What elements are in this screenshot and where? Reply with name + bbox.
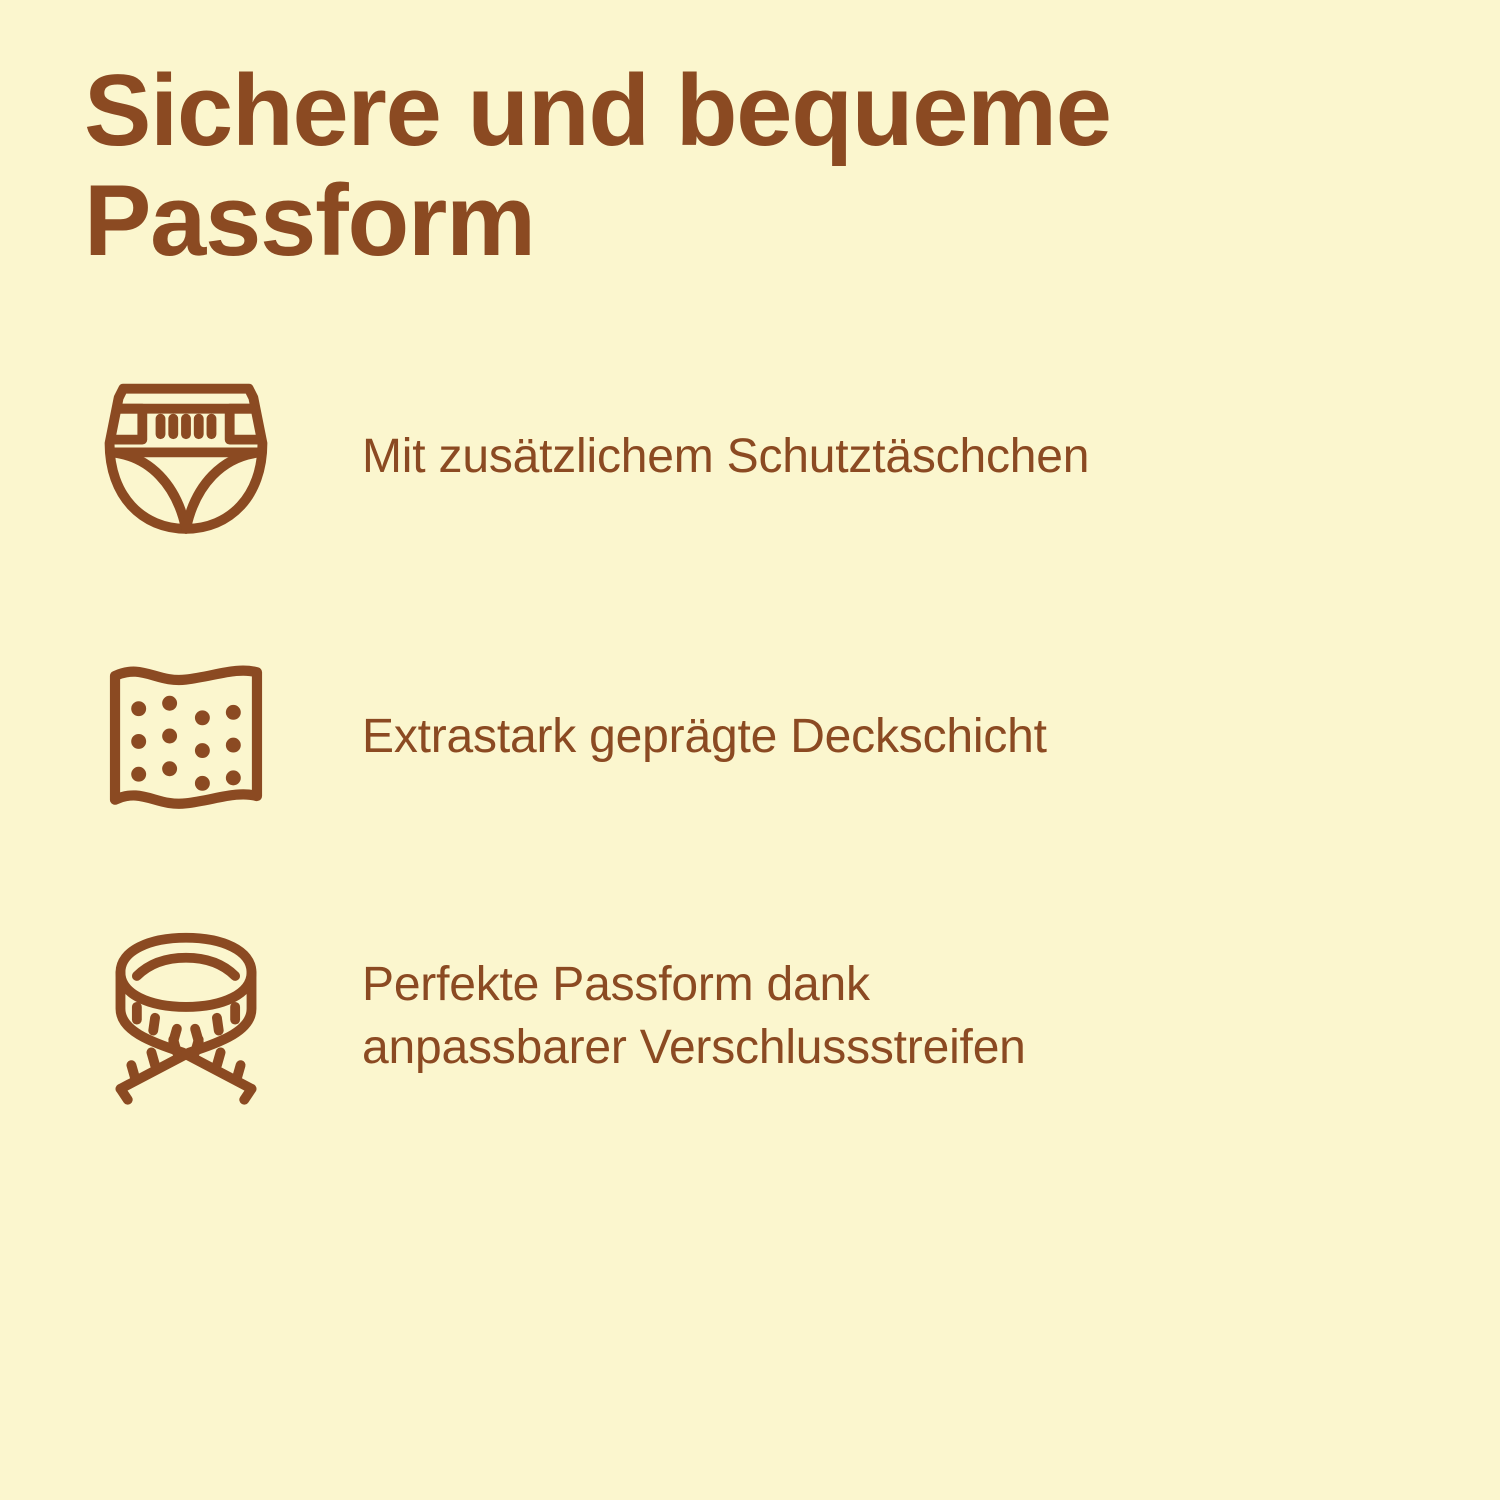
diaper-icon (90, 360, 282, 552)
list-item: Extrastark geprägte Deckschicht (0, 640, 1500, 832)
measuring-tape-icon (90, 920, 282, 1112)
list-item-label: Perfekte Passform dank anpassbarer Versc… (362, 953, 1500, 1079)
feature-list: Mit zusätzlichem Schutztäschchen (0, 360, 1500, 1112)
list-item: Perfekte Passform dank anpassbarer Versc… (0, 920, 1500, 1112)
list-item: Mit zusätzlichem Schutztäschchen (0, 360, 1500, 552)
list-item-label: Mit zusätzlichem Schutztäschchen (362, 425, 1500, 488)
embossed-fabric-icon (90, 640, 282, 832)
page-title: Sichere und bequeme Passform (84, 56, 1264, 276)
list-item-label: Extrastark geprägte Deckschicht (362, 705, 1500, 768)
product-feature-panel: Sichere und bequeme Passform (0, 0, 1500, 1500)
